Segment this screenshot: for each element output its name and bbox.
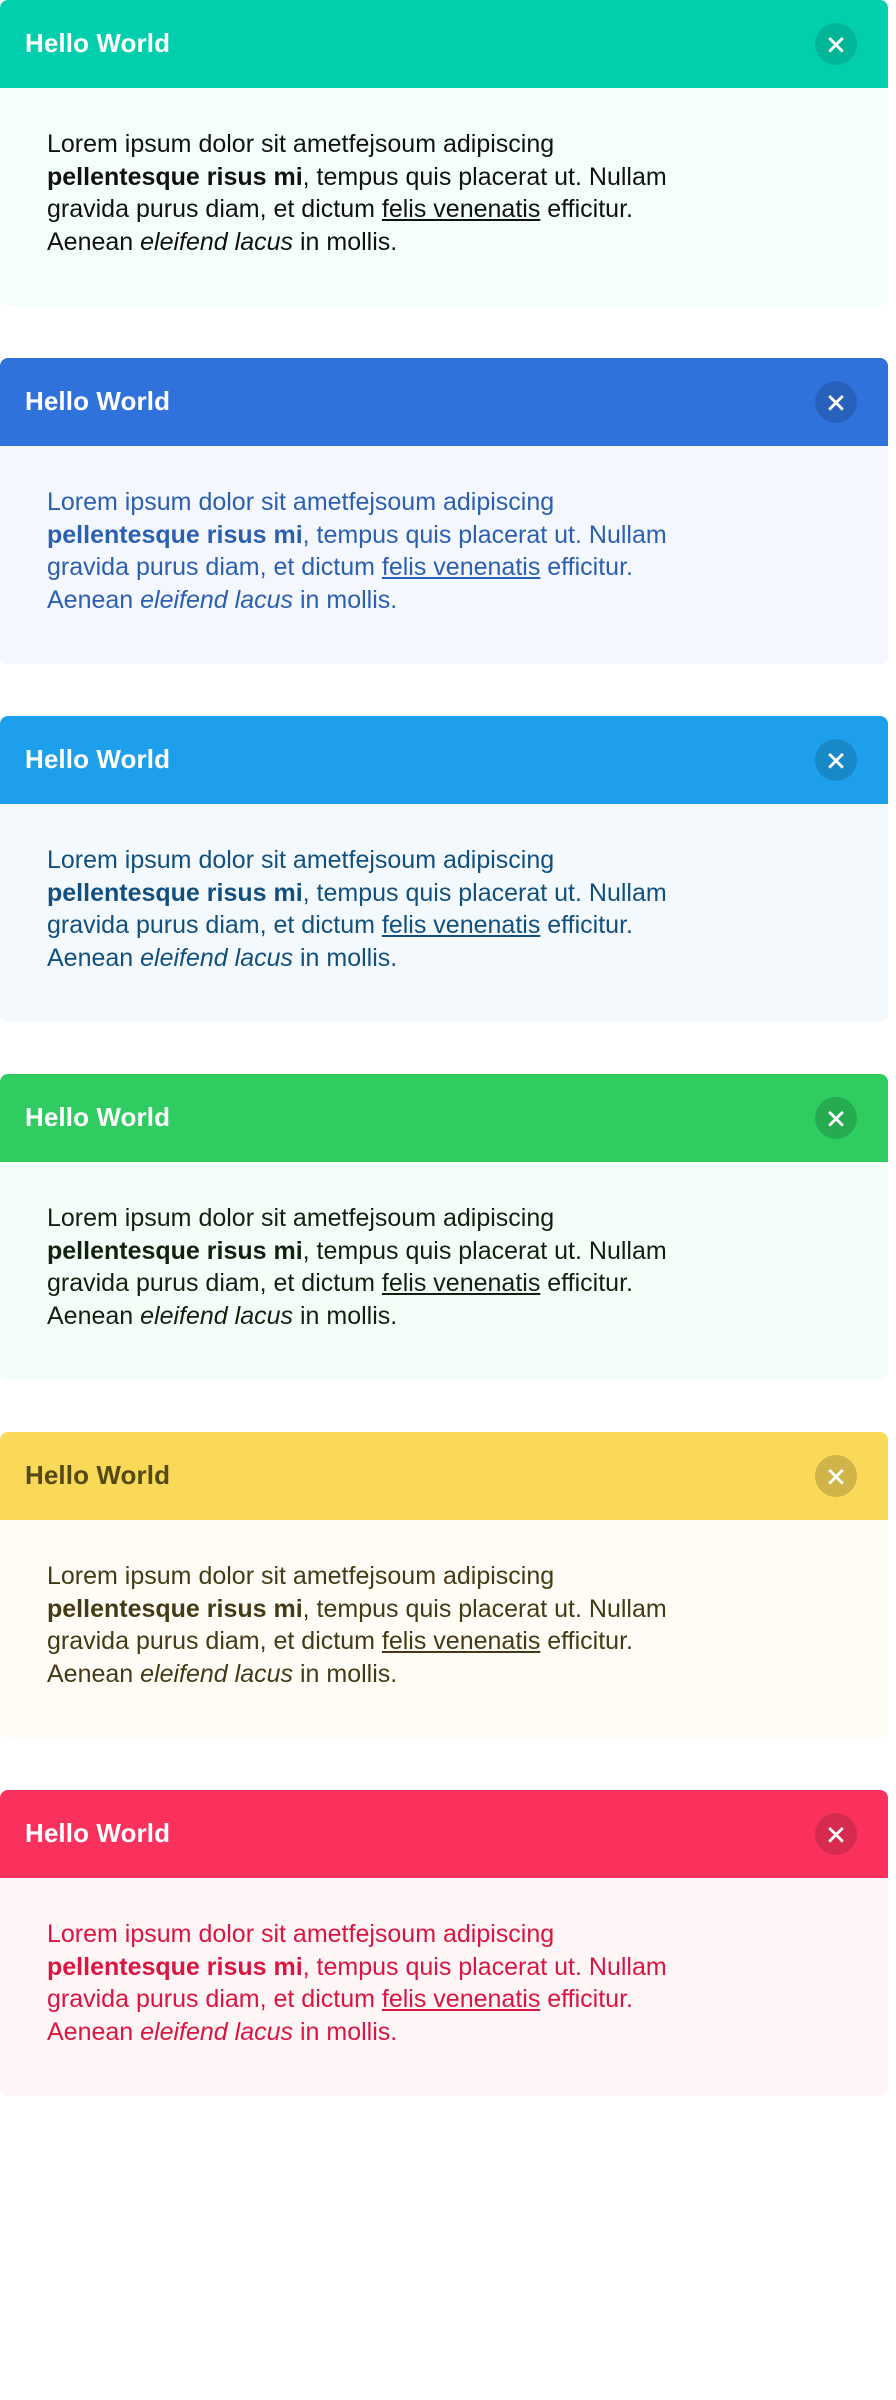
alert-text-bold: pellentesque risus mi: [47, 1237, 303, 1265]
alert-text: Lorem ipsum dolor sit ametfejsoum adipis…: [47, 844, 707, 974]
alert-text-italic: eleifend lacus: [140, 228, 293, 256]
alert-text: Lorem ipsum dolor sit ametfejsoum adipis…: [47, 128, 707, 258]
alert-text-bold: pellentesque risus mi: [47, 521, 303, 549]
alert-text-bold: pellentesque risus mi: [47, 1595, 303, 1623]
alert-text-bold: pellentesque risus mi: [47, 1953, 303, 1981]
alert-body: Lorem ipsum dolor sit ametfejsoum adipis…: [0, 1520, 888, 1738]
close-icon: [827, 751, 845, 769]
alert-text-link[interactable]: felis venenatis: [382, 1269, 540, 1297]
alert-text-run: Lorem ipsum dolor sit ametfejsoum adipis…: [47, 1204, 554, 1232]
alert-card-yellow: Hello World Lorem ipsum dolor sit ametfe…: [0, 1432, 888, 1738]
alert-header: Hello World: [0, 358, 888, 446]
alert-text-italic: eleifend lacus: [140, 2018, 293, 2046]
alert-stack: Hello World Lorem ipsum dolor sit ametfe…: [0, 0, 896, 2096]
alert-body: Lorem ipsum dolor sit ametfejsoum adipis…: [0, 804, 888, 1022]
alert-text-link[interactable]: felis venenatis: [382, 1627, 540, 1655]
alert-header: Hello World: [0, 1790, 888, 1878]
alert-body: Lorem ipsum dolor sit ametfejsoum adipis…: [0, 1878, 888, 2096]
alert-title: Hello World: [25, 28, 170, 59]
alert-text-run: in mollis.: [293, 1302, 397, 1330]
alert-card-light-blue: Hello World Lorem ipsum dolor sit ametfe…: [0, 716, 888, 1022]
alert-text-link[interactable]: felis venenatis: [382, 1985, 540, 2013]
alert-text: Lorem ipsum dolor sit ametfejsoum adipis…: [47, 1918, 707, 2048]
close-button[interactable]: [815, 1455, 857, 1497]
close-button[interactable]: [815, 381, 857, 423]
alert-text-link[interactable]: felis venenatis: [382, 553, 540, 581]
close-icon: [827, 1825, 845, 1843]
close-button[interactable]: [815, 1097, 857, 1139]
alert-header: Hello World: [0, 1074, 888, 1162]
alert-text-run: in mollis.: [293, 586, 397, 614]
alert-title: Hello World: [25, 1460, 170, 1491]
close-button[interactable]: [815, 1813, 857, 1855]
close-icon: [827, 35, 845, 53]
alert-text-run: in mollis.: [293, 228, 397, 256]
alert-text: Lorem ipsum dolor sit ametfejsoum adipis…: [47, 486, 707, 616]
alert-text-run: Lorem ipsum dolor sit ametfejsoum adipis…: [47, 488, 554, 516]
alert-text-bold: pellentesque risus mi: [47, 879, 303, 907]
alert-text-run: Lorem ipsum dolor sit ametfejsoum adipis…: [47, 1920, 554, 1948]
alert-text-run: in mollis.: [293, 1660, 397, 1688]
alert-card-teal: Hello World Lorem ipsum dolor sit ametfe…: [0, 0, 888, 306]
alert-card-blue: Hello World Lorem ipsum dolor sit ametfe…: [0, 358, 888, 664]
alert-text: Lorem ipsum dolor sit ametfejsoum adipis…: [47, 1202, 707, 1332]
alert-text-run: Lorem ipsum dolor sit ametfejsoum adipis…: [47, 1562, 554, 1590]
alert-body: Lorem ipsum dolor sit ametfejsoum adipis…: [0, 88, 888, 306]
close-icon: [827, 1109, 845, 1127]
alert-card-green: Hello World Lorem ipsum dolor sit ametfe…: [0, 1074, 888, 1380]
alert-text-run: Lorem ipsum dolor sit ametfejsoum adipis…: [47, 846, 554, 874]
alert-title: Hello World: [25, 1818, 170, 1849]
alert-text-italic: eleifend lacus: [140, 944, 293, 972]
alert-text-link[interactable]: felis venenatis: [382, 195, 540, 223]
alert-text-italic: eleifend lacus: [140, 1660, 293, 1688]
close-button[interactable]: [815, 23, 857, 65]
alert-text-bold: pellentesque risus mi: [47, 163, 303, 191]
alert-body: Lorem ipsum dolor sit ametfejsoum adipis…: [0, 446, 888, 664]
alert-text-link[interactable]: felis venenatis: [382, 911, 540, 939]
alert-header: Hello World: [0, 1432, 888, 1520]
alert-text-italic: eleifend lacus: [140, 586, 293, 614]
close-icon: [827, 393, 845, 411]
alert-text-run: in mollis.: [293, 2018, 397, 2046]
alert-title: Hello World: [25, 386, 170, 417]
alert-text-italic: eleifend lacus: [140, 1302, 293, 1330]
alert-text: Lorem ipsum dolor sit ametfejsoum adipis…: [47, 1560, 707, 1690]
alert-text-run: in mollis.: [293, 944, 397, 972]
alert-card-red: Hello World Lorem ipsum dolor sit ametfe…: [0, 1790, 888, 2096]
alert-title: Hello World: [25, 744, 170, 775]
alert-text-run: Lorem ipsum dolor sit ametfejsoum adipis…: [47, 130, 554, 158]
alert-title: Hello World: [25, 1102, 170, 1133]
alert-header: Hello World: [0, 0, 888, 88]
alert-header: Hello World: [0, 716, 888, 804]
close-button[interactable]: [815, 739, 857, 781]
close-icon: [827, 1467, 845, 1485]
alert-body: Lorem ipsum dolor sit ametfejsoum adipis…: [0, 1162, 888, 1380]
